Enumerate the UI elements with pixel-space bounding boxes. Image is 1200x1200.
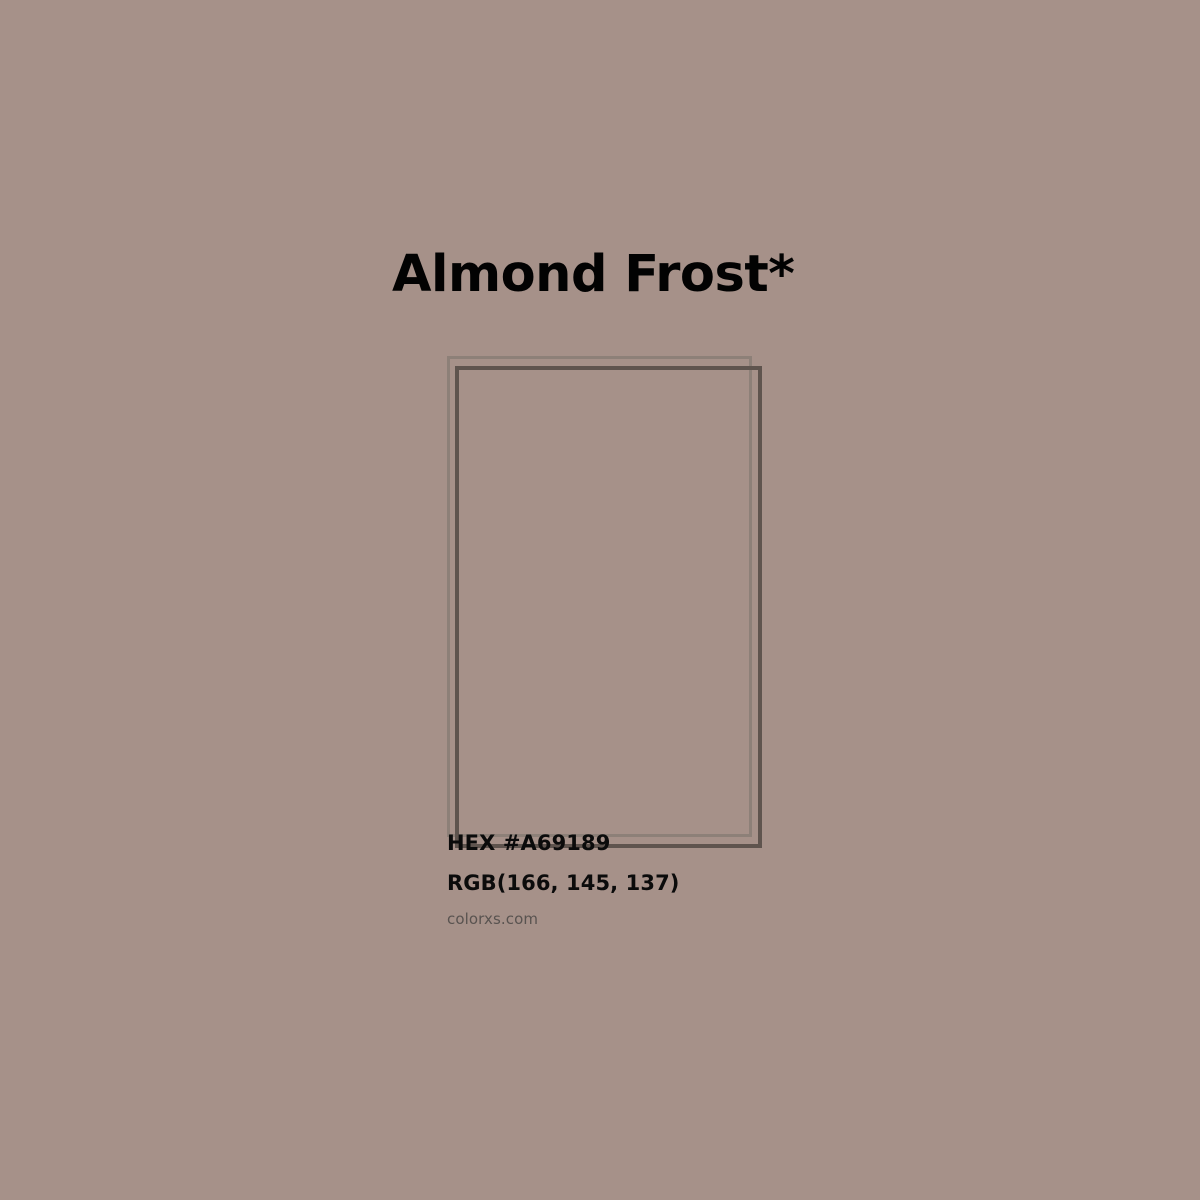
swatch-frame-back bbox=[447, 356, 752, 837]
rgb-value-label: RGB(166, 145, 137) bbox=[447, 873, 867, 894]
swatch-preview bbox=[0, 0, 1200, 1200]
color-swatch-page: Almond Frost* HEX #A69189 RGB(166, 145, … bbox=[0, 0, 1200, 1200]
hex-value-label: HEX #A69189 bbox=[447, 833, 867, 854]
color-info-block: HEX #A69189 RGB(166, 145, 137) colorxs.c… bbox=[447, 833, 867, 927]
swatch-frame-front bbox=[455, 366, 762, 848]
page-title: Almond Frost* bbox=[392, 247, 794, 303]
site-credit-label: colorxs.com bbox=[447, 912, 867, 927]
